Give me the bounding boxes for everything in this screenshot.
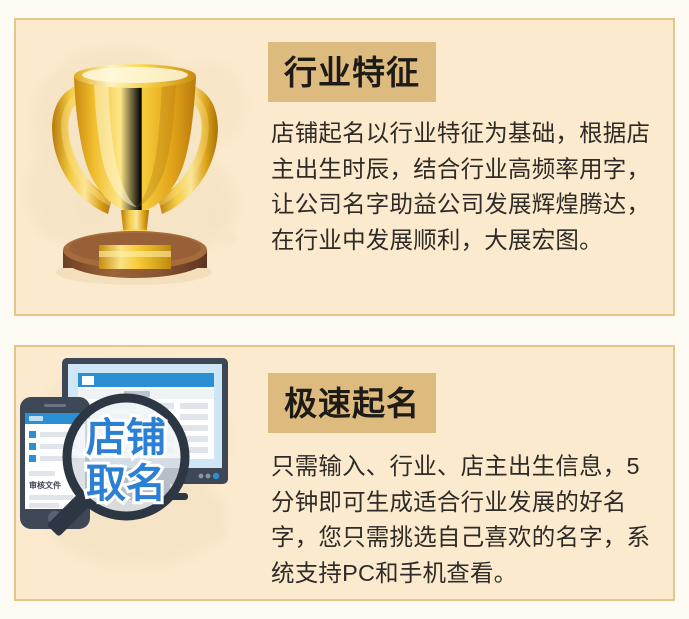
- feature-card-industry-features: 行业特征 店铺起名以行业特征为基础，根据店主出生时辰，结合行业高频率用字，让公司…: [14, 18, 675, 316]
- devices-illustration: 审核文件: [16, 347, 254, 599]
- magnifier-text-line2: 取名: [86, 462, 166, 506]
- title-wrap: 极速起名: [268, 373, 655, 433]
- trophy-icon: [16, 20, 254, 306]
- card-body-text: 店铺起名以行业特征为基础，根据店主出生时辰，结合行业高频率用字，让公司名字助益公…: [271, 116, 655, 259]
- card-body-text: 只需输入、行业、店主出生信息，5分钟即可生成适合行业发展的好名字，您只需挑选自己…: [271, 449, 655, 592]
- promo-page: 行业特征 店铺起名以行业特征为基础，根据店主出生时辰，结合行业高频率用字，让公司…: [0, 0, 689, 619]
- title-wrap: 行业特征: [268, 42, 655, 102]
- card-title: 极速起名: [268, 373, 436, 433]
- magnifier-text-line1: 店铺: [86, 416, 166, 460]
- trophy-illustration: [16, 20, 254, 314]
- feature-card-fast-naming: 审核文件: [14, 345, 675, 601]
- card-content: 行业特征 店铺起名以行业特征为基础，根据店主出生时辰，结合行业高频率用字，让公司…: [254, 20, 673, 314]
- card-title: 行业特征: [268, 42, 436, 102]
- card-content: 极速起名 只需输入、行业、店主出生信息，5分钟即可生成适合行业发展的好名字，您只…: [254, 347, 673, 599]
- monitor-phone-magnifier-icon: 审核文件: [16, 347, 254, 591]
- phone-label: 审核文件: [29, 480, 61, 490]
